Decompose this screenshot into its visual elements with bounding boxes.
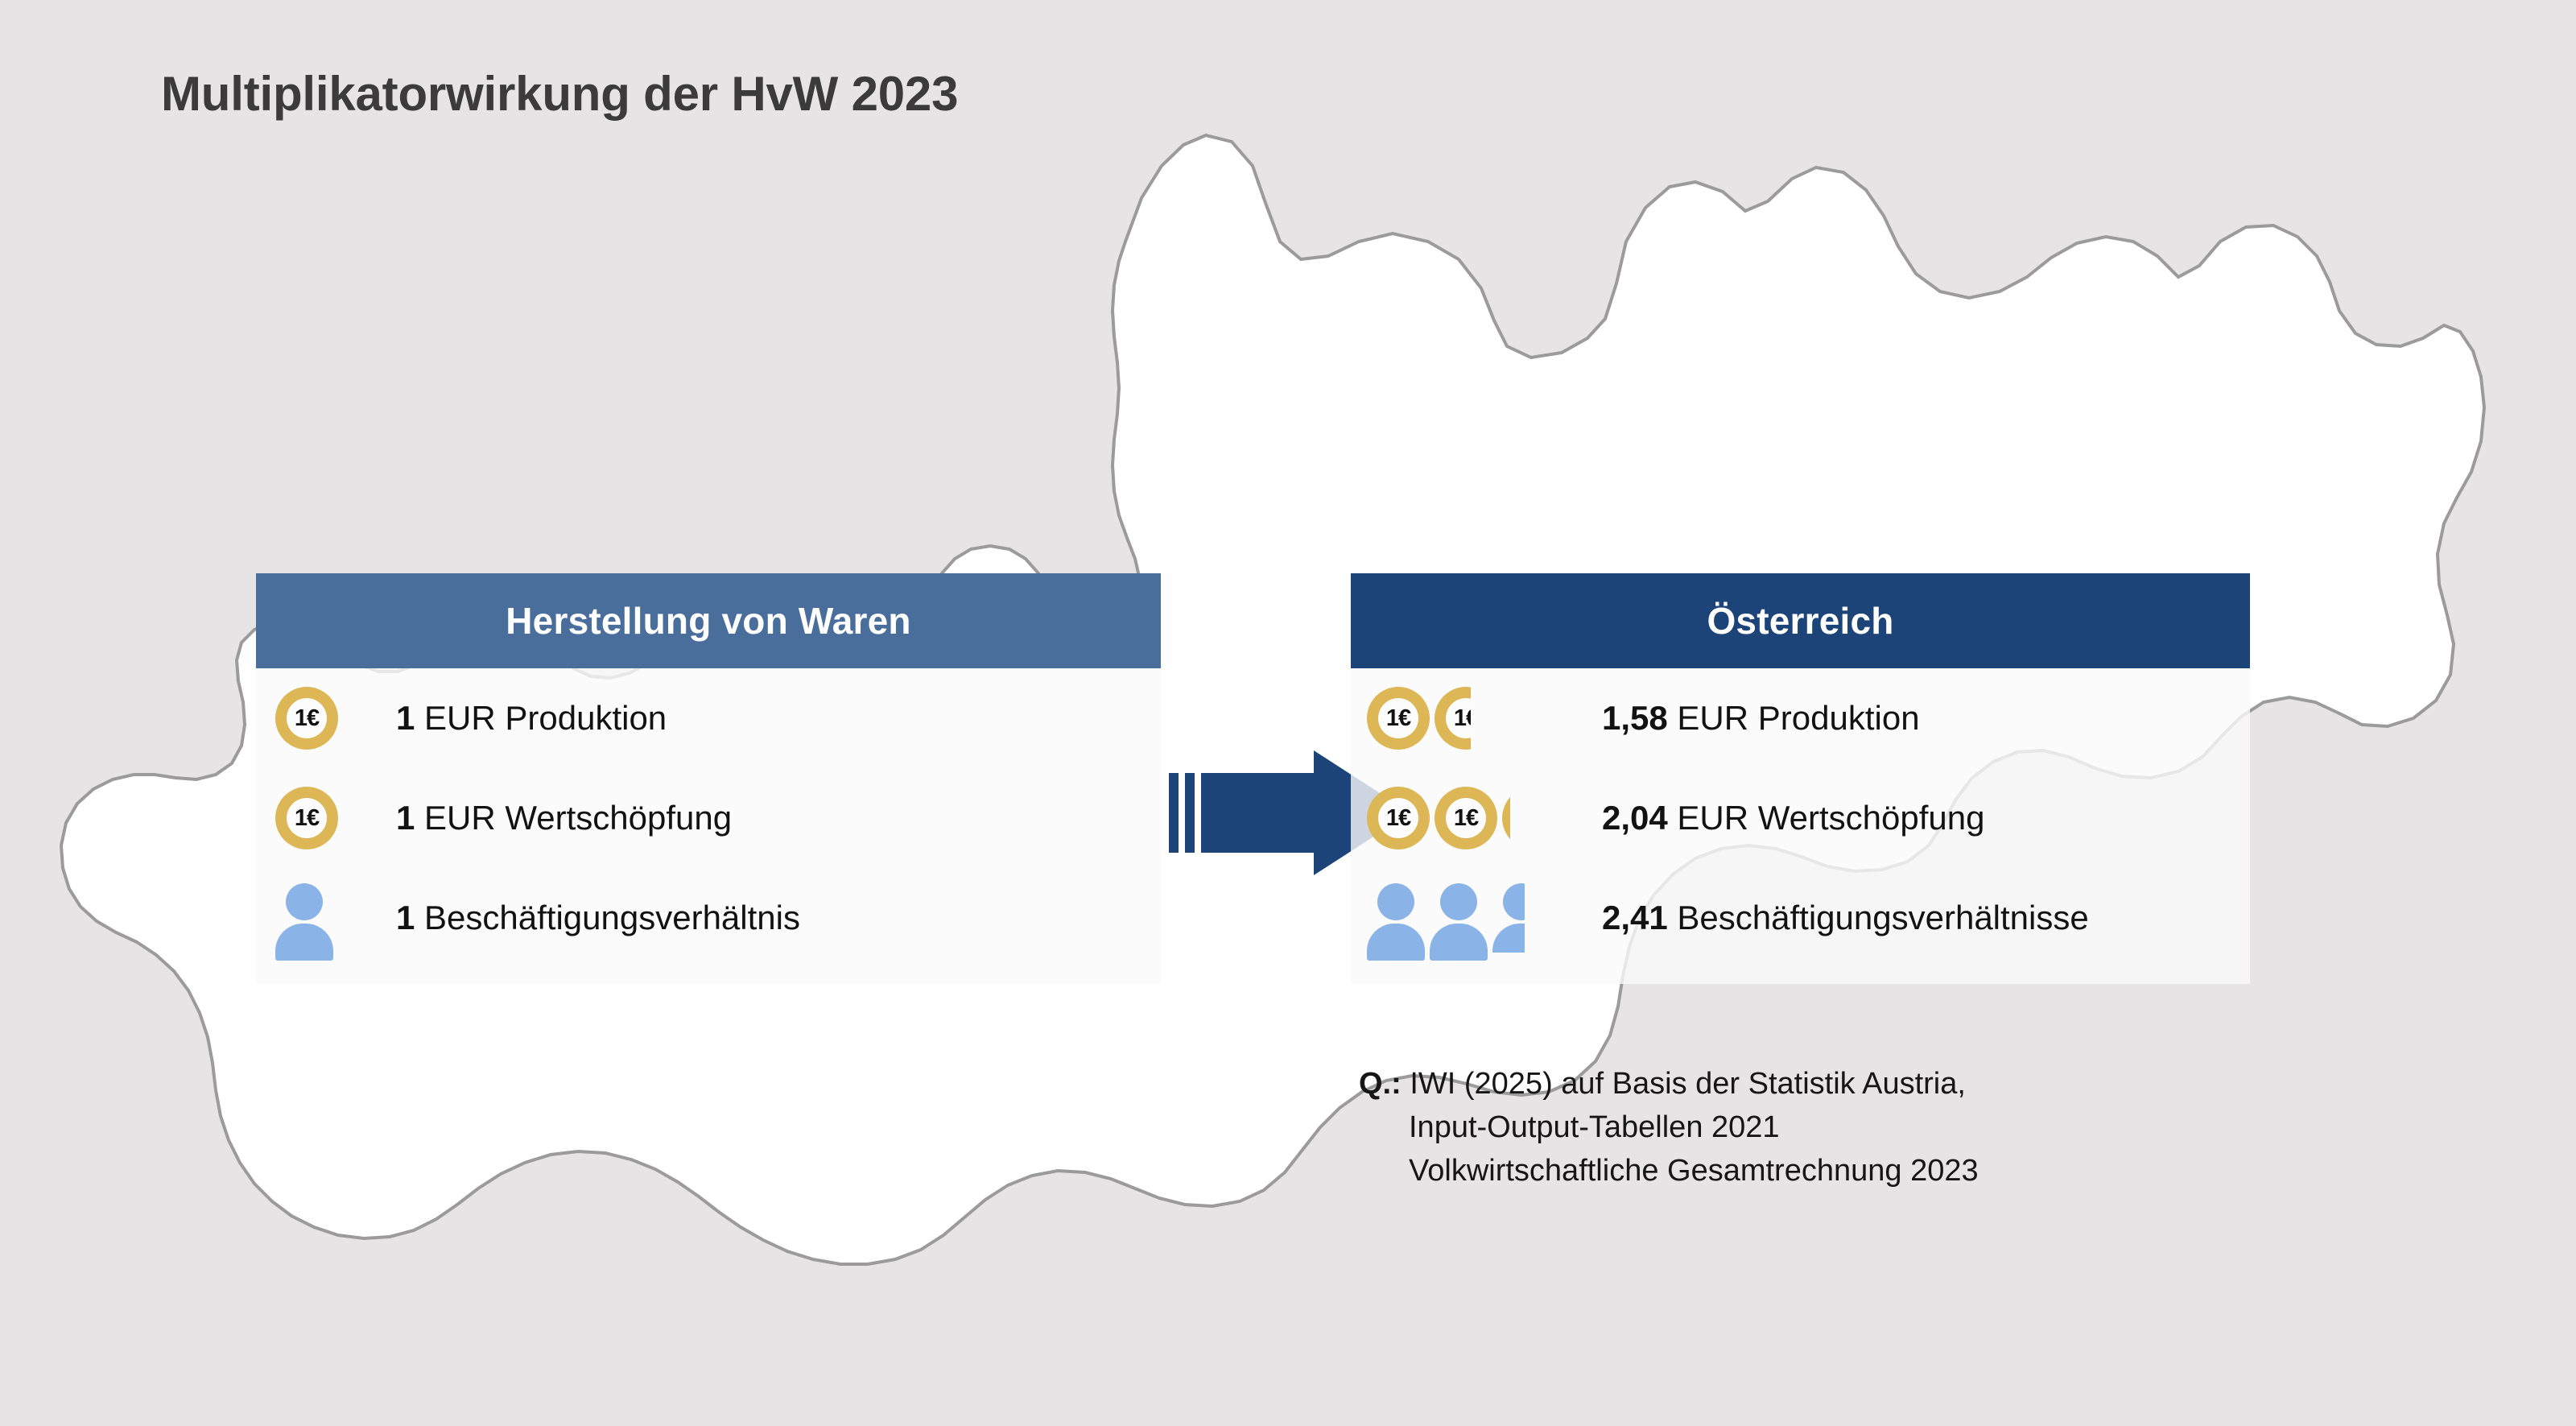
arrow-tail-stripe-2 xyxy=(1185,773,1195,853)
person-head xyxy=(286,883,323,920)
coin-label: 1€ xyxy=(1454,705,1471,732)
table-row: 1€ 1€ 1,58 EUR Produktion xyxy=(1351,668,2250,768)
source-line-2: Input-Output-Tabellen 2021 xyxy=(1359,1106,1979,1150)
person-head xyxy=(1377,883,1414,920)
row-label-production: 1 EUR Produktion xyxy=(396,701,667,735)
panel-herstellung-von-waren: Herstellung von Waren 1€ 1 EUR Produktio… xyxy=(256,573,1161,984)
coin-label: 1€ xyxy=(1386,705,1410,732)
person-body xyxy=(1430,924,1488,961)
euro-coin-icon: 1€ xyxy=(1367,787,1430,849)
row-value: 2,41 xyxy=(1602,899,1668,936)
person-icon xyxy=(1492,883,1525,953)
panel-oesterreich: Österreich 1€ 1€ xyxy=(1351,573,2250,984)
euro-coin-icon: 1€ xyxy=(1435,787,1497,849)
row-value: 2,04 xyxy=(1602,799,1668,837)
row-value: 1 xyxy=(396,699,415,737)
table-row: 1 Beschäftigungsverhältnis xyxy=(256,868,1161,968)
row-label-production: 1,58 EUR Produktion xyxy=(1602,701,1920,735)
panel-right-header: Österreich xyxy=(1351,573,2250,668)
euro-coin-icon-partial: 1€ xyxy=(1435,687,1471,750)
row-value: 1 xyxy=(396,899,415,936)
coin-label: 1€ xyxy=(1386,805,1410,832)
arrow-tail-stripe-1 xyxy=(1169,773,1179,853)
euro-coin-icon: 1€ xyxy=(1502,787,1510,849)
table-row: 2,41 Beschäftigungsverhältnisse xyxy=(1351,868,2250,968)
panel-left-header: Herstellung von Waren xyxy=(256,573,1161,668)
person-body xyxy=(1492,924,1525,953)
euro-coin-icon: 1€ xyxy=(275,787,338,849)
euro-coin-icon: 1€ xyxy=(1435,687,1471,750)
source-line-3: Volkwirtschaftliche Gesamtrechnung 2023 xyxy=(1359,1150,1979,1193)
icon-cell-production: 1€ 1€ xyxy=(1367,668,1583,768)
icon-cell-production: 1€ xyxy=(275,668,365,768)
icon-cell-beschaeftigung xyxy=(1367,868,1583,968)
person-body xyxy=(1367,924,1425,961)
page-title: Multiplikatorwirkung der HvW 2023 xyxy=(161,66,958,122)
person-head xyxy=(1440,883,1477,920)
person-icon-partial xyxy=(1492,883,1525,953)
panel-left-body: 1€ 1 EUR Produktion 1€ 1 xyxy=(256,668,1161,984)
person-icon xyxy=(275,883,333,953)
row-unit: EUR Wertschöpfung xyxy=(415,799,732,837)
infographic-canvas: Multiplikatorwirkung der HvW 2023 Herste… xyxy=(0,0,2576,1426)
person-head xyxy=(1503,883,1525,920)
row-unit: EUR Produktion xyxy=(1668,699,1920,737)
coin-label: 1€ xyxy=(295,705,319,732)
row-unit: EUR Produktion xyxy=(415,699,667,737)
coin-label: 1€ xyxy=(295,805,319,832)
row-unit: Beschäftigungsverhältnisse xyxy=(1668,899,2089,936)
euro-coin-icon: 1€ xyxy=(275,687,338,750)
person-icon xyxy=(1430,883,1488,953)
table-row: 1€ 1 EUR Wertschöpfung xyxy=(256,768,1161,868)
icon-cell-wertschoepfung: 1€ 1€ 1€ xyxy=(1367,768,1583,868)
person-icon xyxy=(1367,883,1425,953)
row-unit: Beschäftigungsverhältnis xyxy=(415,899,800,936)
row-label-beschaeftigung: 2,41 Beschäftigungsverhältnisse xyxy=(1602,901,2089,935)
table-row: 1€ 1€ 1€ 2,04 EUR Wertschöpfung xyxy=(1351,768,2250,868)
source-line-1: Q.: IWI (2025) auf Basis der Statistik A… xyxy=(1359,1063,1979,1106)
icon-cell-wertschoepfung: 1€ xyxy=(275,768,365,868)
row-value: 1,58 xyxy=(1602,699,1668,737)
person-body xyxy=(275,924,333,961)
row-label-beschaeftigung: 1 Beschäftigungsverhältnis xyxy=(396,901,800,935)
row-value: 1 xyxy=(396,799,415,837)
table-row: 1€ 1 EUR Produktion xyxy=(256,668,1161,768)
panel-right-body: 1€ 1€ 1,58 EUR Produktion xyxy=(1351,668,2250,984)
icon-cell-beschaeftigung xyxy=(275,868,365,968)
source-note: Q.: IWI (2025) auf Basis der Statistik A… xyxy=(1359,1063,1979,1193)
source-label: Q.: xyxy=(1359,1067,1402,1101)
coin-label: 1€ xyxy=(1454,805,1478,832)
row-label-wertschoepfung: 1 EUR Wertschöpfung xyxy=(396,801,732,835)
source-text-1: IWI (2025) auf Basis der Statistik Austr… xyxy=(1402,1067,1966,1101)
euro-coin-icon: 1€ xyxy=(1367,687,1430,750)
row-unit: EUR Wertschöpfung xyxy=(1668,799,1985,837)
euro-coin-icon-partial: 1€ xyxy=(1502,787,1510,849)
row-label-wertschoepfung: 2,04 EUR Wertschöpfung xyxy=(1602,801,1984,835)
